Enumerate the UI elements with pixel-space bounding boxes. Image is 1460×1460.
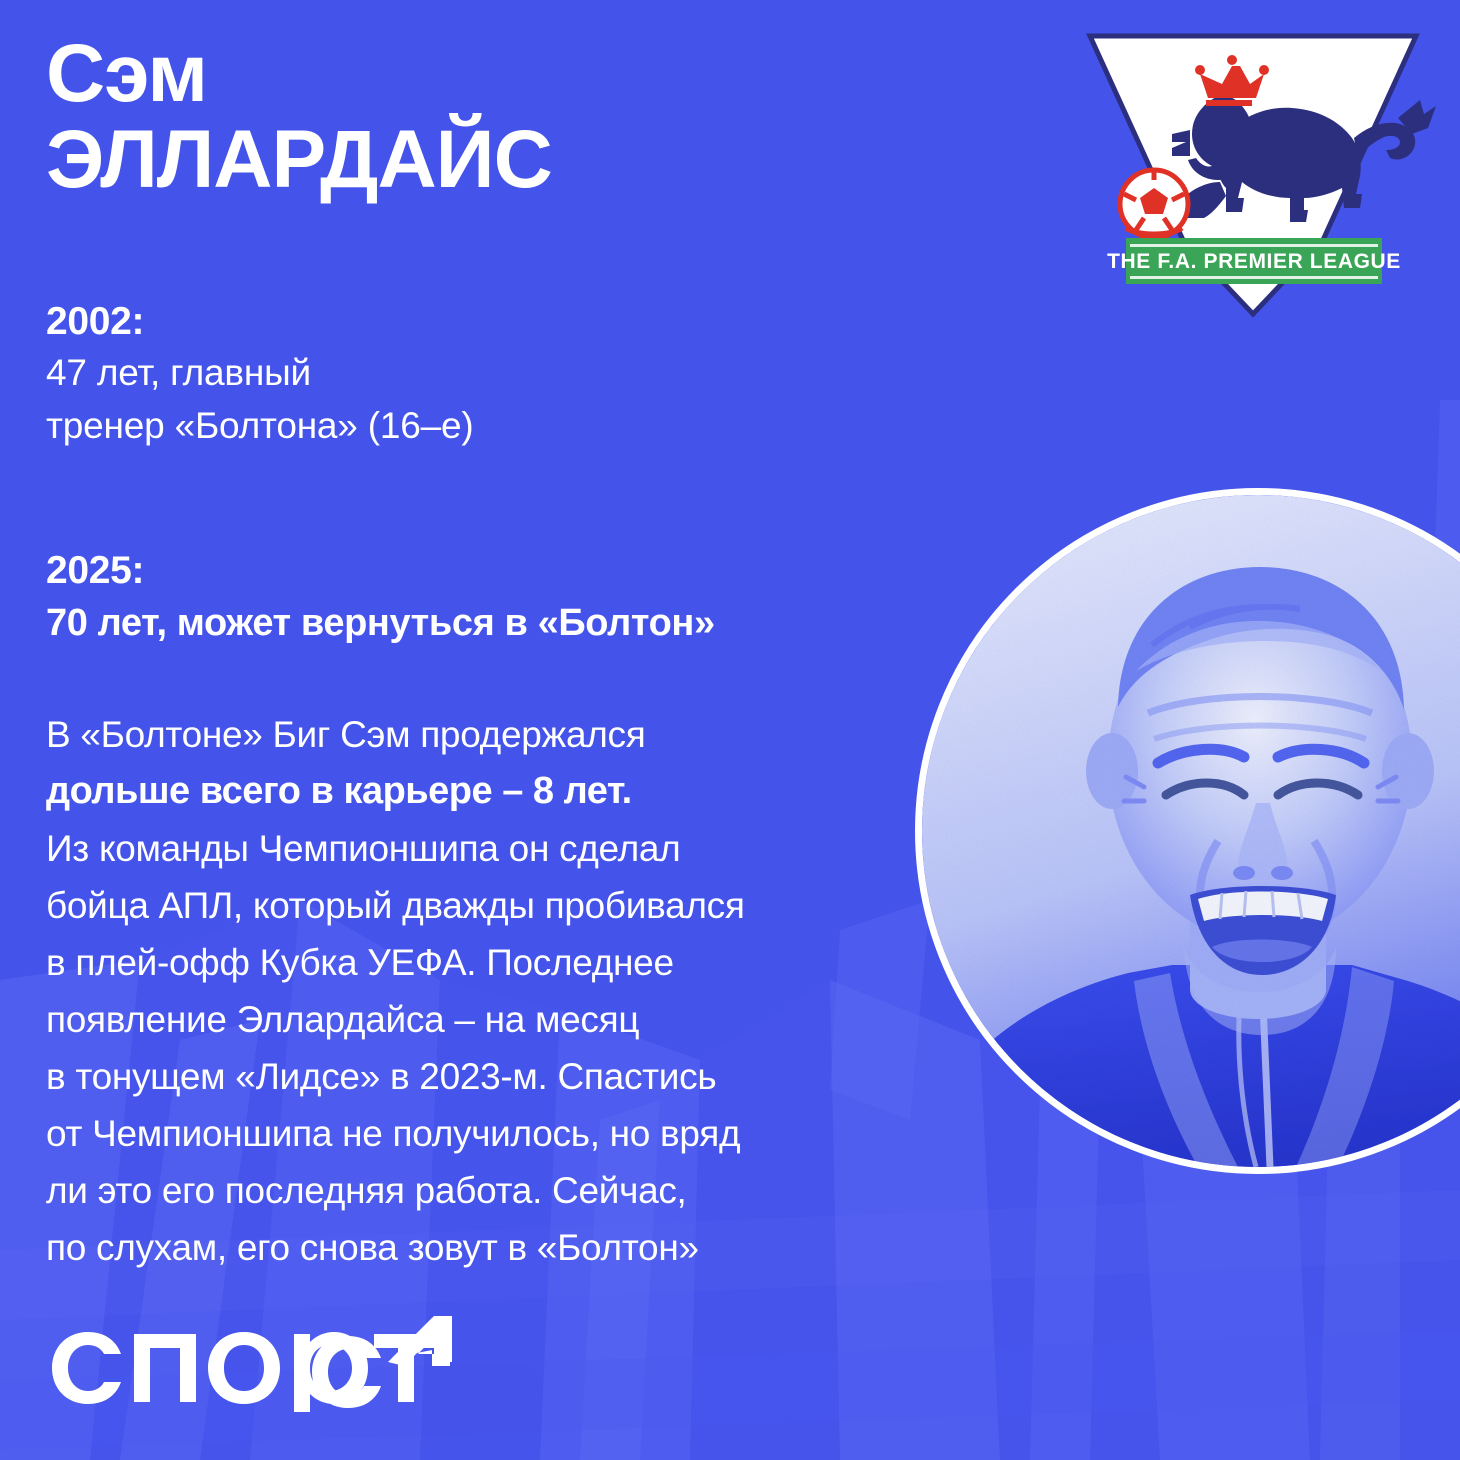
title-last-name: ЭЛЛАРДАЙС [46, 118, 1006, 202]
body-line: по слухам, его снова зовут в «Болтон» [46, 1219, 926, 1276]
fa-premier-league-logo: THE F.A. PREMIER LEAGUE [1068, 22, 1438, 322]
stat-line-2002-1: 47 лет, главный [46, 347, 474, 400]
body-line: в плей-офф Кубка УЕФА. Последнее [46, 934, 926, 991]
stat-block-2002: 2002: 47 лет, главный тренер «Болтона» (… [46, 296, 474, 453]
body-line: В «Болтоне» Биг Сэм продержался [46, 706, 926, 763]
body-line-highlight: дольше всего в карьере – 8 лет. [46, 763, 926, 820]
stat-line-2002-2: тренер «Болтона» (16–е) [46, 400, 474, 453]
title-first-name: Сэм [46, 34, 1006, 114]
portrait-avatar [915, 488, 1460, 1174]
lion-icon [1166, 95, 1436, 222]
page-title: Сэм ЭЛЛАРДАЙС [46, 34, 1006, 202]
body-paragraph: В «Болтоне» Биг Сэм продержался дольше в… [46, 706, 926, 1276]
body-line: ли это его последняя работа. Сейчас, [46, 1162, 926, 1219]
stat-line-2025-1: 70 лет, может вернуться в «Болтон» [46, 596, 715, 650]
football-icon [1120, 170, 1188, 238]
stat-block-2025: 2025: 70 лет, может вернуться в «Болтон» [46, 545, 715, 651]
body-line: в тонущем «Лидсе» в 2023-м. Спастись [46, 1048, 926, 1105]
stat-year-2025: 2025: [46, 545, 715, 596]
body-line: появление Эллардайса – на месяц [46, 991, 926, 1048]
infographic-card: Сэм ЭЛЛАРДАЙС [0, 0, 1460, 1460]
sports-logo-arrow-mark [300, 1310, 460, 1420]
body-line: от Чемпионшипа не получилось, но вряд [46, 1105, 926, 1162]
body-line: бойца АПЛ, который дважды пробивался [46, 877, 926, 934]
stat-year-2002: 2002: [46, 296, 474, 347]
league-banner-text: THE F.A. PREMIER LEAGUE [1107, 250, 1401, 273]
league-banner: THE F.A. PREMIER LEAGUE [1107, 238, 1401, 284]
body-line: Из команды Чемпионшипа он сделал [46, 820, 926, 877]
